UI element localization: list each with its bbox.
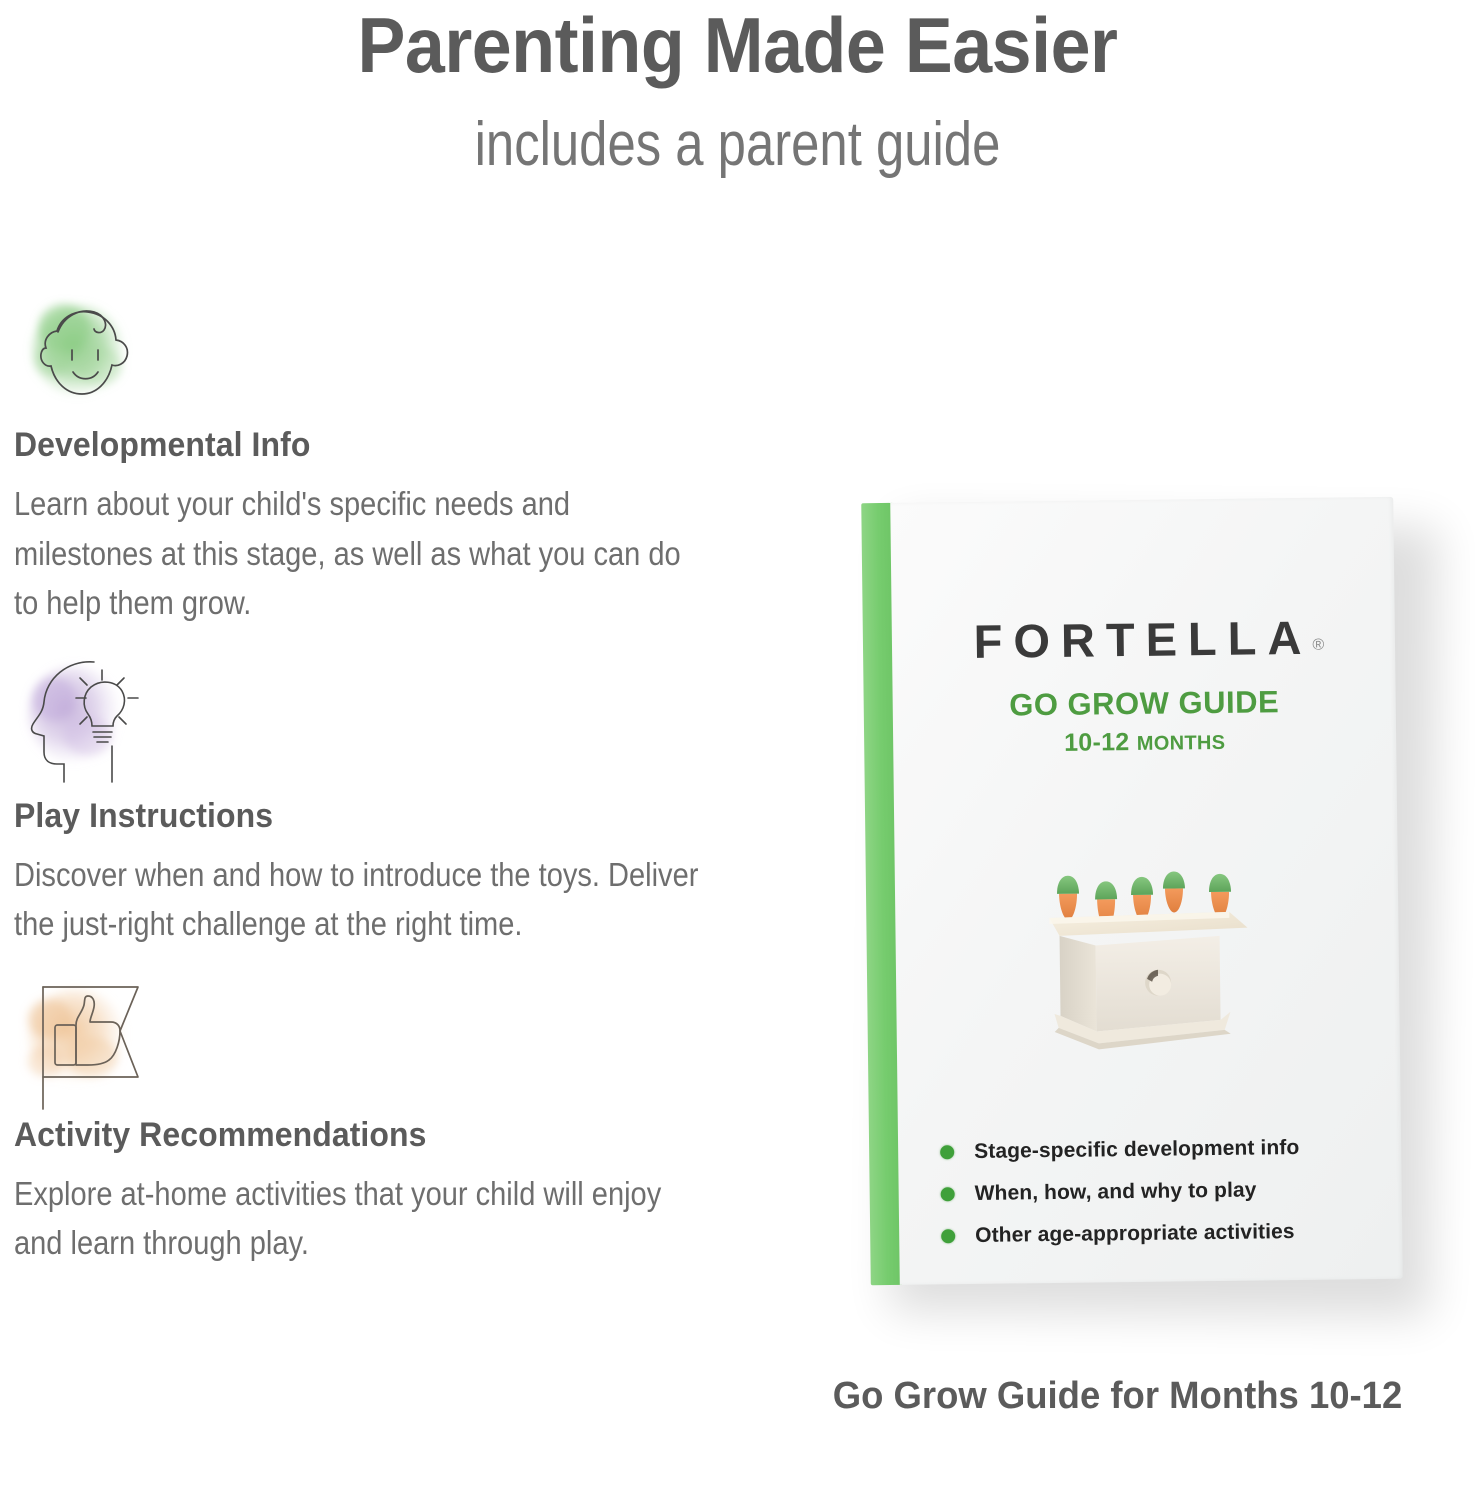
cover-bullet-list: Stage-specific development info When, ho…	[940, 1135, 1382, 1266]
book-caption: Go Grow Guide for Months 10-12	[774, 1375, 1460, 1418]
bullet-dot-icon	[941, 1187, 955, 1201]
bullet-dot-icon	[940, 1145, 954, 1159]
feature-title: Activity Recommendations	[14, 1108, 710, 1155]
age-number: 10-12	[1064, 728, 1130, 757]
book-cover: FORTELLA® GO GROW GUIDE 10-12 MONTHS	[890, 497, 1403, 1285]
feature-description: Discover when and how to introduce the t…	[14, 836, 709, 949]
page-title: Parenting Made Easier	[59, 6, 1416, 84]
feature-title: Play Instructions	[14, 789, 710, 836]
header: Parenting Made Easier includes a parent …	[0, 0, 1475, 176]
page-subtitle: includes a parent guide	[133, 84, 1343, 176]
list-item: Other age-appropriate activities	[941, 1219, 1381, 1248]
feature-description: Explore at-home activities that your chi…	[14, 1155, 709, 1268]
product-book-area: FORTELLA® GO GROW GUIDE 10-12 MONTHS	[760, 470, 1475, 1500]
feature-description: Learn about your child's specific needs …	[14, 465, 709, 628]
go-grow-guide-book: FORTELLA® GO GROW GUIDE 10-12 MONTHS	[861, 497, 1403, 1285]
bullet-dot-icon	[941, 1229, 955, 1243]
guide-age-range: 10-12 MONTHS	[893, 725, 1396, 760]
brand-name: FORTELLA	[973, 611, 1312, 668]
feature-title: Developmental Info	[14, 418, 710, 465]
feature-item-play-instructions: Play Instructions Discover when and how …	[14, 654, 754, 949]
list-item: Stage-specific development info	[940, 1135, 1380, 1164]
bullet-label: Stage-specific development info	[974, 1136, 1299, 1164]
bullet-label: When, how, and why to play	[975, 1179, 1257, 1206]
wooden-carrot-harvest-toy-image	[1022, 843, 1275, 1061]
bullet-label: Other age-appropriate activities	[975, 1220, 1295, 1248]
feature-item-developmental-info: Developmental Info Learn about your chil…	[14, 288, 754, 628]
baby-face-icon	[16, 288, 166, 418]
age-unit: MONTHS	[1137, 732, 1226, 755]
feature-item-activity-recommendations: Activity Recommendations Explore at-home…	[14, 973, 754, 1268]
thumbs-up-flag-icon	[16, 973, 166, 1108]
list-item: When, how, and why to play	[941, 1177, 1381, 1206]
guide-title: GO GROW GUIDE	[893, 683, 1396, 725]
feature-list: Developmental Info Learn about your chil…	[14, 288, 754, 1282]
head-lightbulb-icon	[16, 654, 166, 789]
brand-logo: FORTELLA®	[892, 609, 1396, 670]
registered-trademark-icon: ®	[1312, 637, 1324, 654]
